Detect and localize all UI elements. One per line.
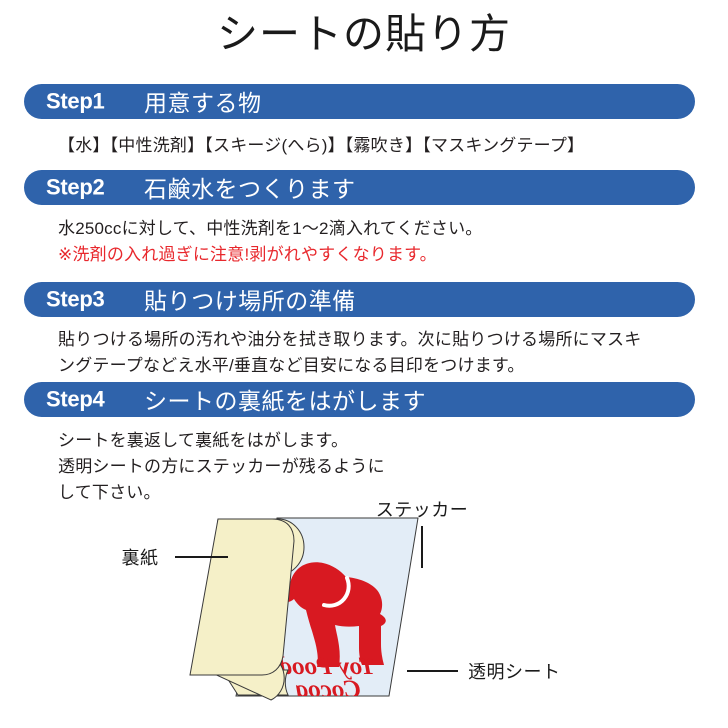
backing-paper-main — [190, 519, 294, 675]
step-bar-3: Step3 貼りつけ場所の準備 — [24, 282, 695, 317]
peeling-sheet-diagram: Toy Poodle Cocoa 裏紙 — [0, 486, 728, 728]
step-number-4: Step4 — [46, 386, 104, 412]
step-3-body: 貼りつける場所の汚れや油分を拭き取ります。次に貼りつける場所にマスキ ングテープ… — [58, 327, 670, 379]
step-number-2: Step2 — [46, 174, 104, 200]
step-heading-3: 貼りつけ場所の準備 — [144, 282, 356, 315]
step-number-1: Step1 — [46, 88, 104, 114]
label-transfer-sheet: 透明シート — [407, 662, 561, 682]
label-sticker-text: ステッカー — [376, 500, 469, 520]
label-transfer-sheet-text: 透明シート — [468, 662, 561, 682]
step-bar-2: Step2 石鹸水をつくります — [24, 170, 695, 205]
step-heading-4: シートの裏紙をはがします — [144, 382, 426, 415]
step-heading-1: 用意する物 — [144, 84, 262, 117]
step-1-body: 【水】【中性洗剤】【スキージ(へら)】【霧吹き】【マスキングテープ】 — [58, 133, 678, 159]
step-2-warning: ※洗剤の入れ過ぎに注意!剥がれやすくなります。 — [58, 242, 678, 268]
sticker-text-line-2: Cocoa — [295, 676, 360, 703]
step-number-3: Step3 — [46, 286, 104, 312]
page-title: シートの貼り方 — [0, 6, 728, 62]
instruction-sheet: シートの貼り方 Step1 用意する物 【水】【中性洗剤】【スキージ(へら)】【… — [0, 0, 728, 728]
step-bar-1: Step1 用意する物 — [24, 84, 695, 119]
step-heading-2: 石鹸水をつくります — [144, 170, 356, 203]
step-2-body: 水250ccに対して、中性洗剤を1〜2滴入れてください。 — [58, 216, 678, 242]
label-backing-paper-text: 裏紙 — [122, 548, 159, 568]
step-bar-4: Step4 シートの裏紙をはがします — [24, 382, 695, 417]
